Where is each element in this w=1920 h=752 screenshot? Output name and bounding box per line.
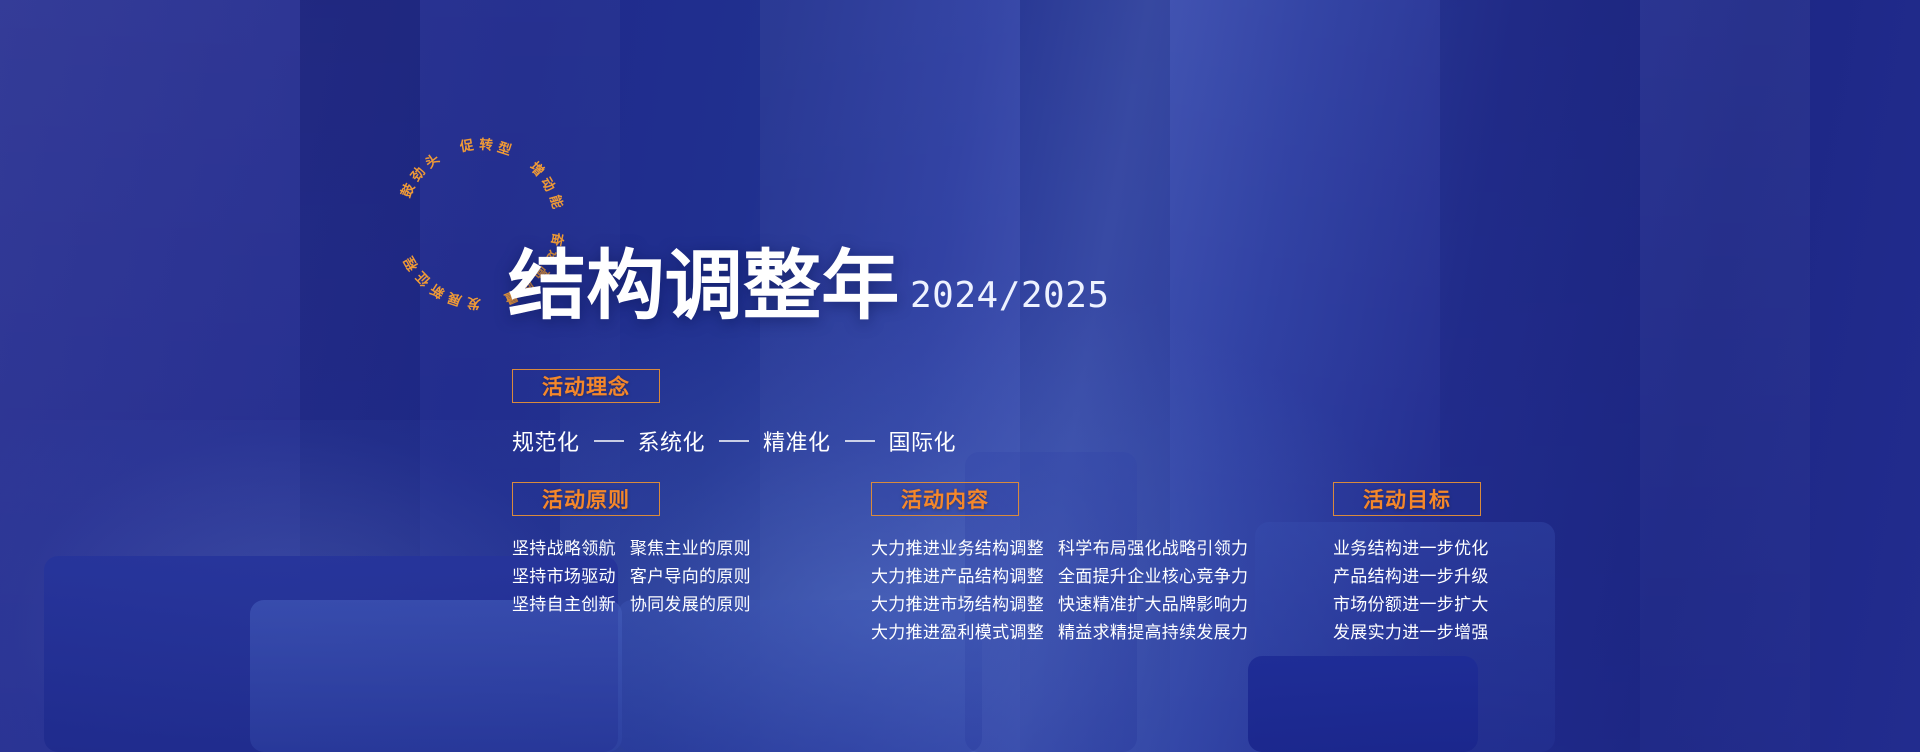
arc-char: 促 (459, 139, 475, 155)
arc-char: 动 (538, 176, 556, 194)
content-row-left: 大力推进产品结构调整 (871, 563, 1044, 591)
content-row-right: 快速精准扩大品牌影响力 (1058, 591, 1248, 619)
arc-char: 程 (403, 254, 421, 272)
arc-char: 能 (546, 194, 563, 211)
principle-row: 坚持战略领航聚焦主业的原则 (512, 535, 751, 563)
idea-separator (845, 440, 875, 442)
arc-char: 发 (467, 294, 482, 309)
goal-row: 发展实力进一步增强 (1333, 619, 1489, 647)
goal-row: 业务结构进一步优化 (1333, 535, 1489, 563)
content-row-right: 精益求精提高持续发展力 (1058, 619, 1248, 647)
content-row-right: 科学布局强化战略引领力 (1058, 535, 1248, 563)
idea-separator (719, 440, 749, 442)
badge-activity-contents[interactable]: 活动内容 (871, 482, 1019, 516)
goals-list: 业务结构进一步优化产品结构进一步升级市场份额进一步扩大发展实力进一步增强 (1333, 535, 1489, 647)
arc-char: 新 (429, 281, 448, 300)
principle-row: 坚持市场驱动客户导向的原则 (512, 563, 751, 591)
arc-char: 劲 (410, 166, 429, 185)
contents-list: 大力推进业务结构调整科学布局强化战略引领力大力推进产品结构调整全面提升企业核心竞… (871, 535, 1248, 647)
arc-char: 展 (447, 289, 464, 306)
arc-char: 头 (423, 152, 442, 171)
goal-row-left: 业务结构进一步优化 (1333, 535, 1489, 563)
idea-keyword: 系统化 (638, 425, 706, 457)
principles-list: 坚持战略领航聚焦主业的原则坚持市场驱动客户导向的原则坚持自主创新协同发展的原则 (512, 535, 751, 619)
content-row-left: 大力推进市场结构调整 (871, 591, 1044, 619)
idea-keyword-list: 规范化系统化精准化国际化 (512, 425, 956, 457)
headline-chinese: 结构调整年 (508, 248, 899, 324)
arc-char: 鼓 (400, 182, 418, 200)
idea-separator (594, 440, 624, 442)
arc-char: 增 (526, 160, 545, 179)
principle-row-right: 协同发展的原则 (630, 591, 751, 619)
content-row-right: 全面提升企业核心竞争力 (1058, 563, 1248, 591)
arc-char: 型 (496, 141, 513, 158)
arc-char: 征 (414, 269, 433, 288)
content-row: 大力推进市场结构调整快速精准扩大品牌影响力 (871, 591, 1248, 619)
goal-row-left: 市场份额进一步扩大 (1333, 591, 1489, 619)
principle-row-left: 坚持市场驱动 (512, 563, 616, 591)
goal-row: 产品结构进一步升级 (1333, 563, 1489, 591)
content-row-left: 大力推进盈利模式调整 (871, 619, 1044, 647)
arc-char: 转 (479, 139, 493, 153)
building-block (250, 600, 622, 752)
goal-row-left: 产品结构进一步升级 (1333, 563, 1489, 591)
idea-keyword: 国际化 (889, 425, 957, 457)
principle-row-right: 聚焦主业的原则 (630, 535, 751, 563)
badge-activity-idea[interactable]: 活动理念 (512, 369, 660, 403)
content-row: 大力推进产品结构调整全面提升企业核心竞争力 (871, 563, 1248, 591)
banner-root: 鼓劲头促转型增动能奋进高质量发展新征程 结构调整年 2024/2025 活动理念… (0, 0, 1920, 752)
page-title: 结构调整年 2024/2025 (508, 248, 1110, 324)
principle-row: 坚持自主创新协同发展的原则 (512, 591, 751, 619)
headline-year: 2024/2025 (910, 275, 1110, 316)
idea-keyword: 精准化 (763, 425, 831, 457)
badge-activity-principles[interactable]: 活动原则 (512, 482, 660, 516)
content-row-left: 大力推进业务结构调整 (871, 535, 1044, 563)
idea-keyword: 规范化 (512, 425, 580, 457)
principle-row-right: 客户导向的原则 (630, 563, 751, 591)
content-row: 大力推进盈利模式调整精益求精提高持续发展力 (871, 619, 1248, 647)
building-block (1248, 656, 1478, 752)
goal-row: 市场份额进一步扩大 (1333, 591, 1489, 619)
content-row: 大力推进业务结构调整科学布局强化战略引领力 (871, 535, 1248, 563)
goal-row-left: 发展实力进一步增强 (1333, 619, 1489, 647)
principle-row-left: 坚持自主创新 (512, 591, 616, 619)
badge-activity-goals[interactable]: 活动目标 (1333, 482, 1481, 516)
principle-row-left: 坚持战略领航 (512, 535, 616, 563)
